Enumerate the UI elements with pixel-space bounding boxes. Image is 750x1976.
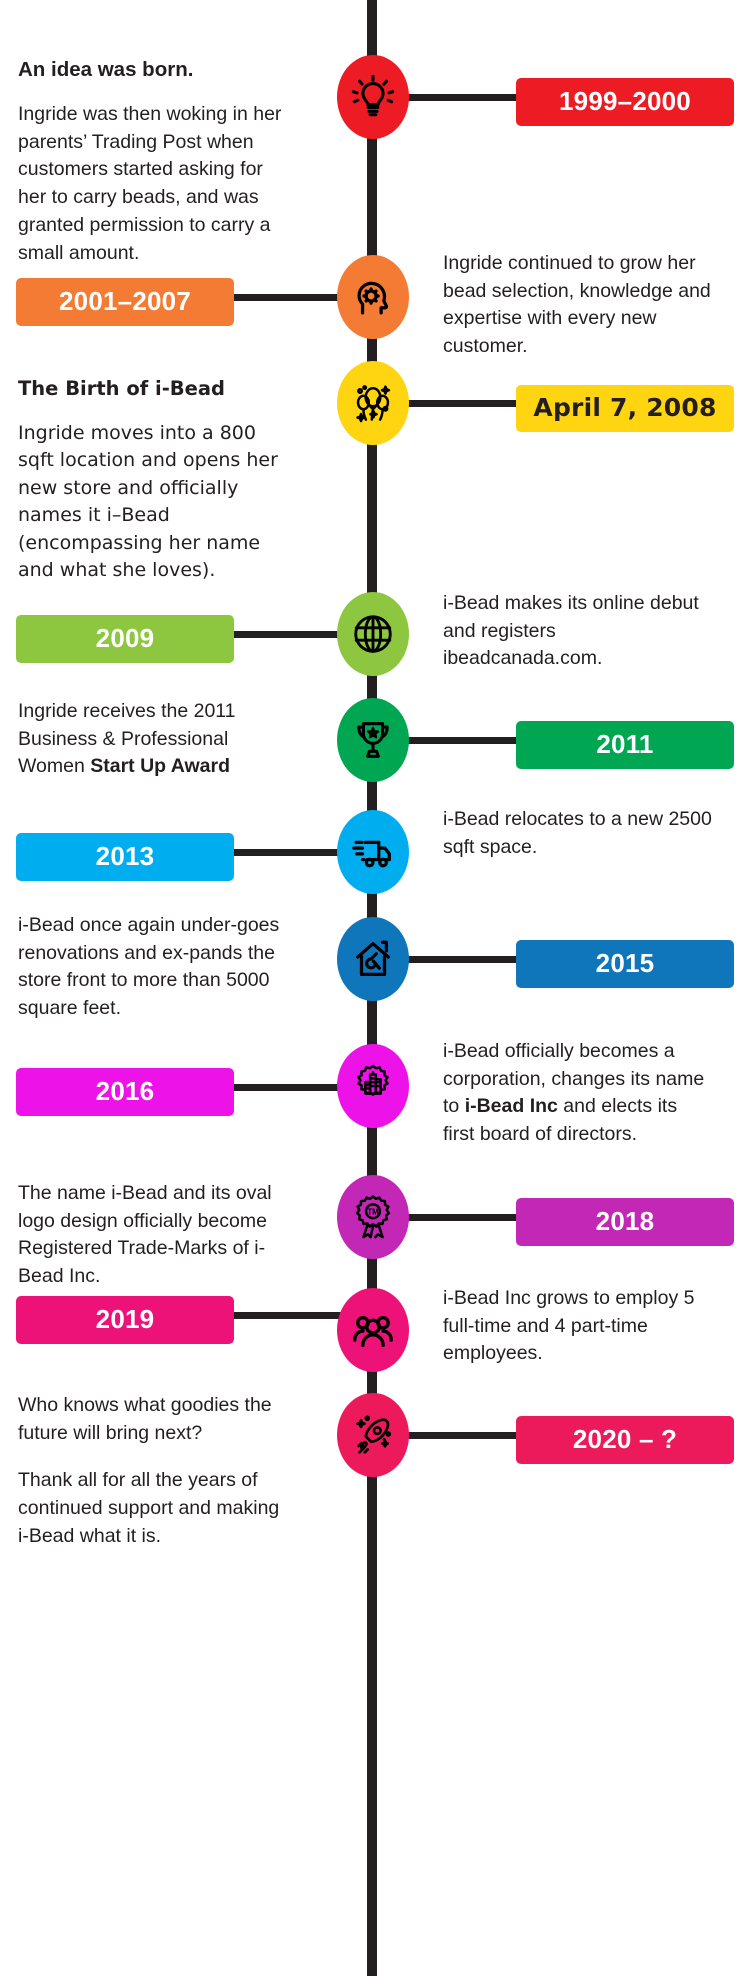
people-group-icon [350, 1307, 396, 1353]
connector-line [405, 1214, 520, 1221]
node-2011[interactable] [337, 698, 409, 782]
trophy-icon [350, 717, 396, 763]
milestone-body: i-Bead once again under-goes renovations… [18, 912, 288, 1023]
timeline-infographic: An idea was born. Ingride was then wokin… [0, 0, 750, 1976]
milestone-text-2011: Ingride receives the 2011 Business & Pro… [18, 698, 288, 781]
milestone-body-emphasis: i-Bead Inc [465, 1095, 558, 1117]
badge-2013[interactable]: 2013 [16, 833, 234, 881]
badge-2018[interactable]: 2018 [516, 1198, 734, 1246]
milestone-body: Ingride receives the 2011 Business & Pro… [18, 698, 288, 781]
badge-2009[interactable]: 2009 [16, 615, 234, 663]
milestone-body: Ingride was then woking in her parents’ … [18, 101, 288, 267]
milestone-heading: The Birth of i-Bead [18, 375, 288, 403]
badge-1999-2000[interactable]: 1999–2000 [516, 78, 734, 126]
milestone-body: Who knows what goodies the future will b… [18, 1392, 288, 1447]
milestone-body: Ingride moves into a 800 sqft location a… [18, 420, 288, 584]
milestone-body-secondary: Thank all for all the years of continued… [18, 1467, 288, 1550]
node-2013[interactable] [337, 810, 409, 894]
connector-line [230, 1312, 345, 1319]
node-2016[interactable] [337, 1044, 409, 1128]
milestone-body: i-Bead makes its online debut and regist… [443, 590, 713, 673]
milestone-text-1999-2000: An idea was born. Ingride was then wokin… [18, 55, 288, 267]
node-2001-2007[interactable] [337, 255, 409, 339]
milestone-text-2018: The name i-Bead and its oval logo design… [18, 1180, 288, 1291]
node-2020[interactable] [337, 1393, 409, 1477]
connector-line [405, 400, 520, 407]
milestone-text-2001-2007: Ingride continued to grow her bead selec… [443, 250, 713, 361]
badge-2008[interactable]: April 7, 2008 [516, 385, 734, 432]
node-2008[interactable] [337, 361, 409, 445]
connector-line [405, 956, 520, 963]
head-gear-icon [350, 274, 396, 320]
connector-line [230, 294, 345, 301]
milestone-body: i-Bead relocates to a new 2500 sqft spac… [443, 806, 713, 861]
milestone-body: i-Bead officially becomes a corporation,… [443, 1038, 713, 1149]
badge-2020[interactable]: 2020 – ? [516, 1416, 734, 1464]
connector-line [230, 631, 345, 638]
badge-2019[interactable]: 2019 [16, 1296, 234, 1344]
connector-line [230, 849, 345, 856]
rocket-icon [350, 1412, 396, 1458]
connector-line [230, 1084, 345, 1091]
trademark-ribbon-icon: TM [350, 1194, 396, 1240]
delivery-truck-icon [350, 829, 396, 875]
milestone-text-2013: i-Bead relocates to a new 2500 sqft spac… [443, 806, 713, 861]
milestone-body: Ingride continued to grow her bead selec… [443, 250, 713, 361]
connector-line [405, 737, 520, 744]
connector-line [405, 94, 520, 101]
milestone-body: i-Bead Inc grows to employ 5 full-time a… [443, 1285, 713, 1368]
badge-2011[interactable]: 2011 [516, 721, 734, 769]
connector-line [405, 1432, 520, 1439]
milestone-text-2016: i-Bead officially becomes a corporation,… [443, 1038, 713, 1149]
badge-2015[interactable]: 2015 [516, 940, 734, 988]
svg-text:TM: TM [367, 1208, 379, 1217]
balloons-icon [350, 380, 396, 426]
milestone-body: The name i-Bead and its oval logo design… [18, 1180, 288, 1291]
milestone-body-emphasis: Start Up Award [90, 755, 230, 777]
corporate-building-icon [350, 1063, 396, 1109]
badge-2001-2007[interactable]: 2001–2007 [16, 278, 234, 326]
milestone-text-2015: i-Bead once again under-goes renovations… [18, 912, 288, 1023]
milestone-text-2008: The Birth of i-Bead Ingride moves into a… [18, 375, 288, 584]
badge-2016[interactable]: 2016 [16, 1068, 234, 1116]
globe-icon [350, 611, 396, 657]
milestone-text-2019: i-Bead Inc grows to employ 5 full-time a… [443, 1285, 713, 1368]
house-renovation-icon [350, 936, 396, 982]
lightbulb-icon [350, 74, 396, 120]
node-2015[interactable] [337, 917, 409, 1001]
node-2019[interactable] [337, 1288, 409, 1372]
milestone-text-2020: Who knows what goodies the future will b… [18, 1392, 288, 1550]
node-2009[interactable] [337, 592, 409, 676]
milestone-heading: An idea was born. [18, 55, 288, 84]
milestone-text-2009: i-Bead makes its online debut and regist… [443, 590, 713, 673]
node-2018[interactable]: TM [337, 1175, 409, 1259]
node-1999-2000[interactable] [337, 55, 409, 139]
